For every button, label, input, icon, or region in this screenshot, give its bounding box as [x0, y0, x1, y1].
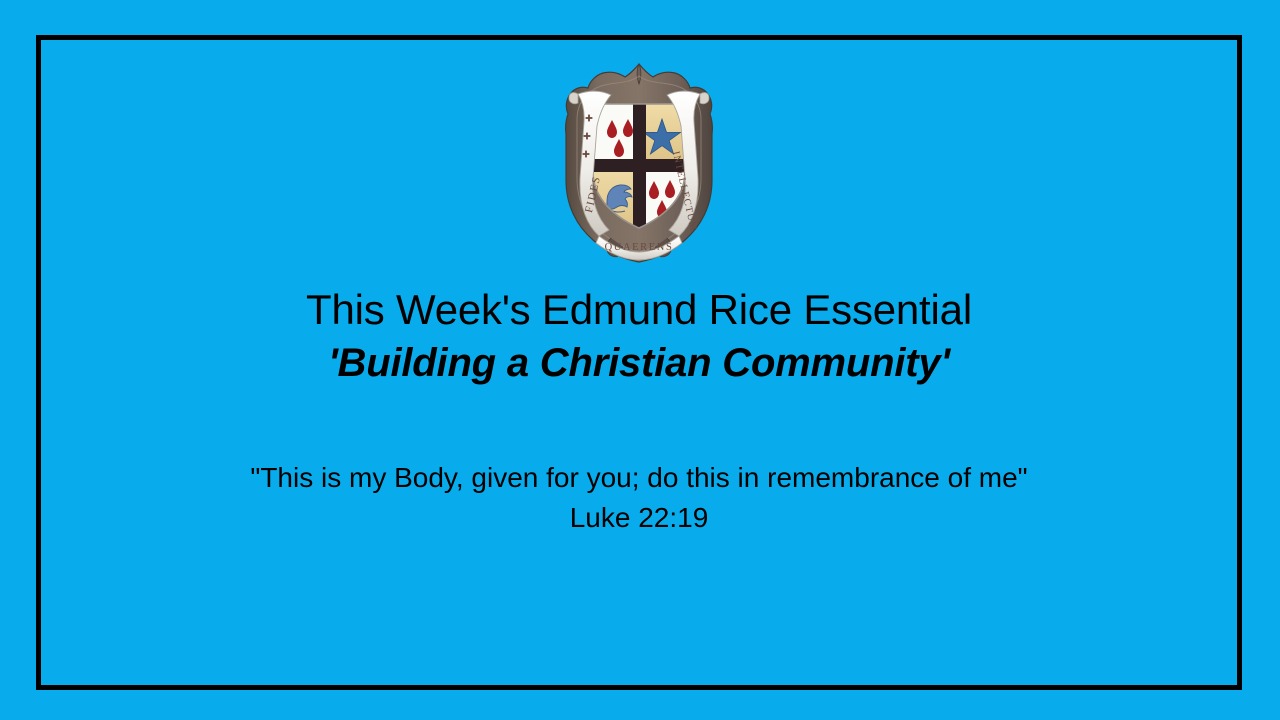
scripture-quote: "This is my Body, given for you; do this…: [41, 458, 1237, 498]
scripture-block: "This is my Body, given for you; do this…: [41, 458, 1237, 538]
scripture-reference: Luke 22:19: [41, 498, 1237, 538]
crest-motto-bottom: QUAERENS: [605, 242, 674, 253]
presentation-slide: FIDES QUAERENS INTELLECTUM This Week's E…: [0, 0, 1280, 720]
slide-content: FIDES QUAERENS INTELLECTUM This Week's E…: [41, 40, 1237, 685]
essential-subtitle: 'Building a Christian Community': [41, 339, 1237, 388]
essential-title: This Week's Edmund Rice Essential: [41, 285, 1237, 335]
crest-container: FIDES QUAERENS INTELLECTUM: [41, 60, 1237, 265]
school-crest-icon: FIDES QUAERENS INTELLECTUM: [549, 60, 729, 265]
heading-block: This Week's Edmund Rice Essential 'Build…: [41, 285, 1237, 387]
